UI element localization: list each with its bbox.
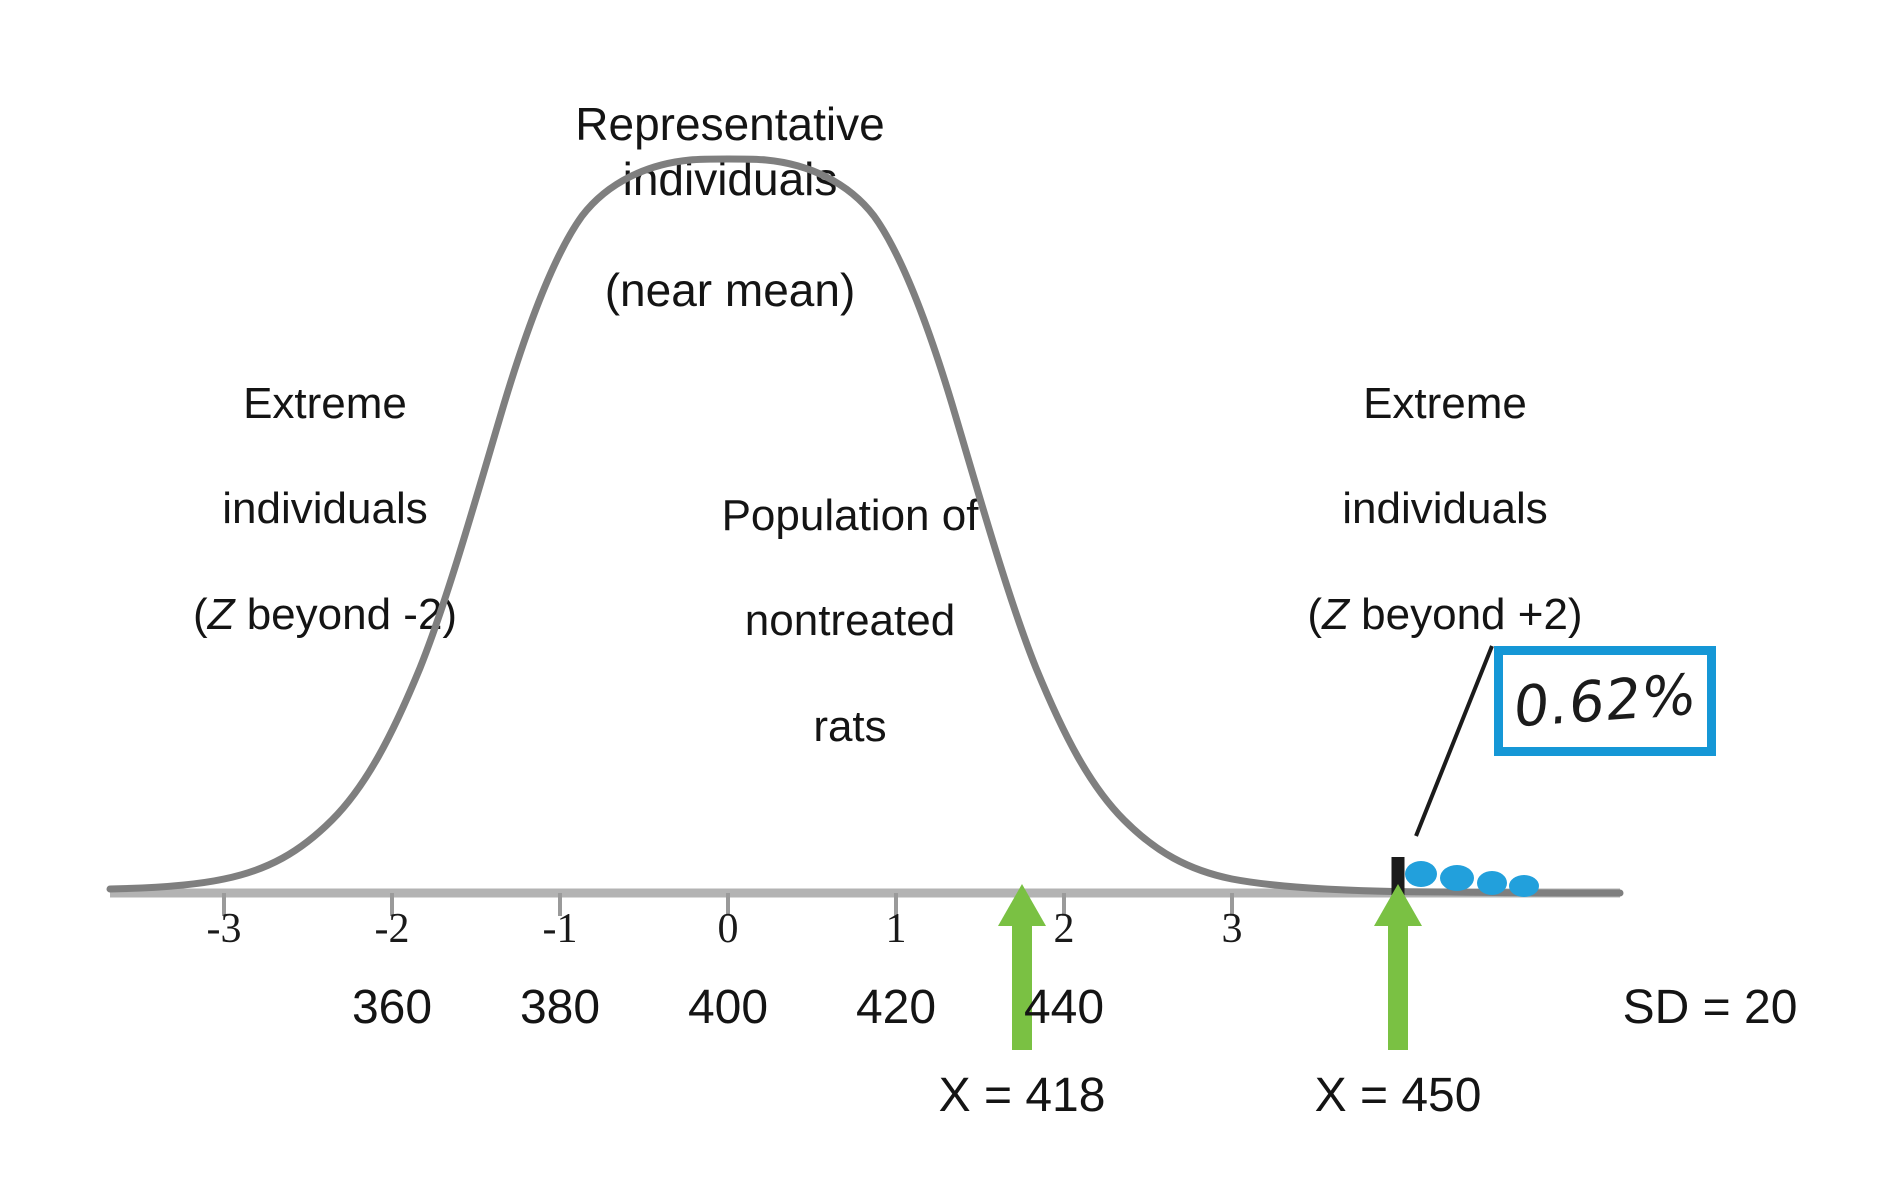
beyond-text-left: beyond -2) — [234, 590, 457, 639]
extreme-dot-4 — [1509, 875, 1539, 897]
z-tick-label--1: -1 — [515, 905, 605, 953]
z-tick-label--2: -2 — [347, 905, 437, 953]
label-population-line-3: rats — [665, 701, 1035, 754]
label-extreme-left: Extreme individuals (Z beyond -2) — [110, 325, 540, 695]
paren-open-right: ( — [1307, 590, 1322, 639]
label-extreme-right-line-1: Extreme — [1230, 378, 1660, 431]
extreme-dot-2 — [1440, 865, 1474, 891]
z-tick-label-3: 3 — [1187, 905, 1277, 953]
label-extreme-left-line-3: (Z beyond -2) — [110, 589, 540, 642]
label-extreme-right: Extreme individuals (Z beyond +2) — [1230, 325, 1660, 695]
sd-label: SD = 20 — [1580, 980, 1840, 1035]
marker-caption-450: X = 450 — [1238, 1068, 1558, 1123]
z-symbol-left: Z — [208, 590, 235, 639]
raw-value-label-420: 420 — [806, 980, 986, 1035]
title-representative-individuals: Representative individuals (near mean) — [470, 42, 990, 373]
extreme-dot-1 — [1405, 861, 1437, 887]
title-line-1: Representative individuals — [470, 97, 990, 207]
figure-canvas: Representative individuals (near mean) E… — [0, 0, 1882, 1185]
label-population-line-2: nontreated — [665, 595, 1035, 648]
marker-caption-418: X = 418 — [862, 1068, 1182, 1123]
marker-arrow-450 — [1374, 884, 1422, 1050]
annotation-percent-value: 0.62% — [1500, 648, 1710, 755]
title-line-2: (near mean) — [470, 263, 990, 318]
z-symbol-right: Z — [1322, 590, 1349, 639]
extreme-dot-3 — [1477, 871, 1507, 895]
raw-value-label-400: 400 — [638, 980, 818, 1035]
raw-value-label-360: 360 — [302, 980, 482, 1035]
label-extreme-right-line-2: individuals — [1230, 483, 1660, 536]
label-population-line-1: Population of — [665, 490, 1035, 543]
extreme-individual-dots — [1405, 861, 1539, 897]
label-extreme-right-line-3: (Z beyond +2) — [1230, 589, 1660, 642]
annotation-box-percent: 0.62% — [1494, 646, 1716, 756]
raw-value-label-380: 380 — [470, 980, 650, 1035]
z-tick-label-0: 0 — [683, 905, 773, 953]
beyond-text-right: beyond +2) — [1349, 590, 1583, 639]
z-tick-label--3: -3 — [179, 905, 269, 953]
z-tick-label-1: 1 — [851, 905, 941, 953]
z-tick-label-2: 2 — [1019, 905, 1109, 953]
label-extreme-left-line-2: individuals — [110, 483, 540, 536]
label-extreme-left-line-1: Extreme — [110, 378, 540, 431]
raw-value-label-440: 440 — [974, 980, 1154, 1035]
paren-open-left: ( — [193, 590, 208, 639]
label-population-nontreated-rats: Population of nontreated rats — [665, 437, 1035, 807]
